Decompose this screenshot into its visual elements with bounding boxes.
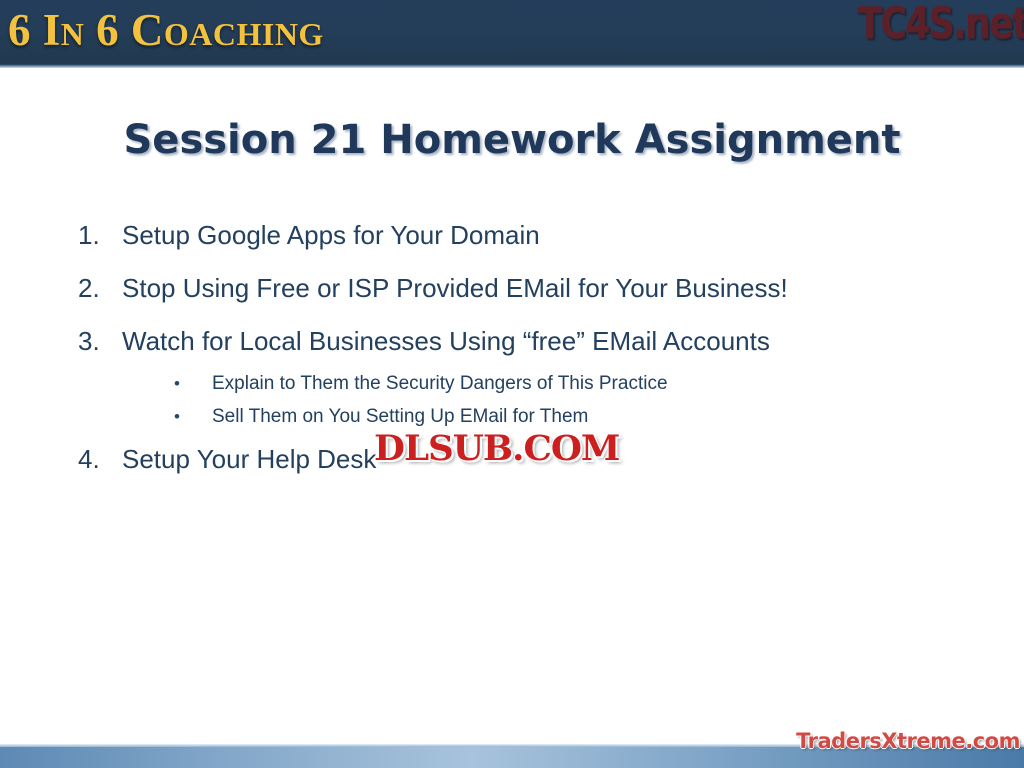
list-item-number: 2. bbox=[78, 273, 122, 304]
footer-logo: TradersXtreme.com bbox=[796, 729, 1020, 753]
list-item: 1. Setup Google Apps for Your Domain bbox=[78, 220, 958, 251]
list-item: 4. Setup Your Help Desk bbox=[78, 444, 958, 475]
sub-list-item-label: Explain to Them the Security Dangers of … bbox=[212, 373, 668, 395]
list-item-label: Setup Google Apps for Your Domain bbox=[122, 220, 540, 251]
list-item-number: 4. bbox=[78, 444, 122, 475]
slide-title: Session 21 Homework Assignment bbox=[0, 117, 1024, 163]
sub-list-item-label: Sell Them on You Setting Up EMail for Th… bbox=[212, 406, 588, 428]
bullet-icon: • bbox=[174, 375, 212, 392]
bullet-icon: • bbox=[174, 408, 212, 425]
list-item-label: Watch for Local Businesses Using “free” … bbox=[122, 326, 770, 357]
list-item-label: Setup Your Help Desk bbox=[122, 444, 376, 475]
slide-body: Session 21 Homework Assignment 1. Setup … bbox=[0, 68, 1024, 744]
homework-outline-list: 1. Setup Google Apps for Your Domain 2. … bbox=[78, 220, 958, 497]
list-item-number: 3. bbox=[78, 326, 122, 357]
list-item-number: 1. bbox=[78, 220, 122, 251]
sub-list-item: • Sell Them on You Setting Up EMail for … bbox=[78, 406, 958, 428]
sub-list-item: • Explain to Them the Security Dangers o… bbox=[78, 373, 958, 395]
sub-list: • Explain to Them the Security Dangers o… bbox=[78, 373, 958, 428]
brand-logo: 6 In 6 Coaching bbox=[8, 4, 324, 56]
slide-header: 6 In 6 Coaching TC4S.net bbox=[0, 0, 1024, 64]
list-item-label: Stop Using Free or ISP Provided EMail fo… bbox=[122, 273, 788, 304]
list-item: 3. Watch for Local Businesses Using “fre… bbox=[78, 326, 958, 357]
site-logo: TC4S.net bbox=[858, 0, 1024, 49]
list-item: 2. Stop Using Free or ISP Provided EMail… bbox=[78, 273, 958, 304]
